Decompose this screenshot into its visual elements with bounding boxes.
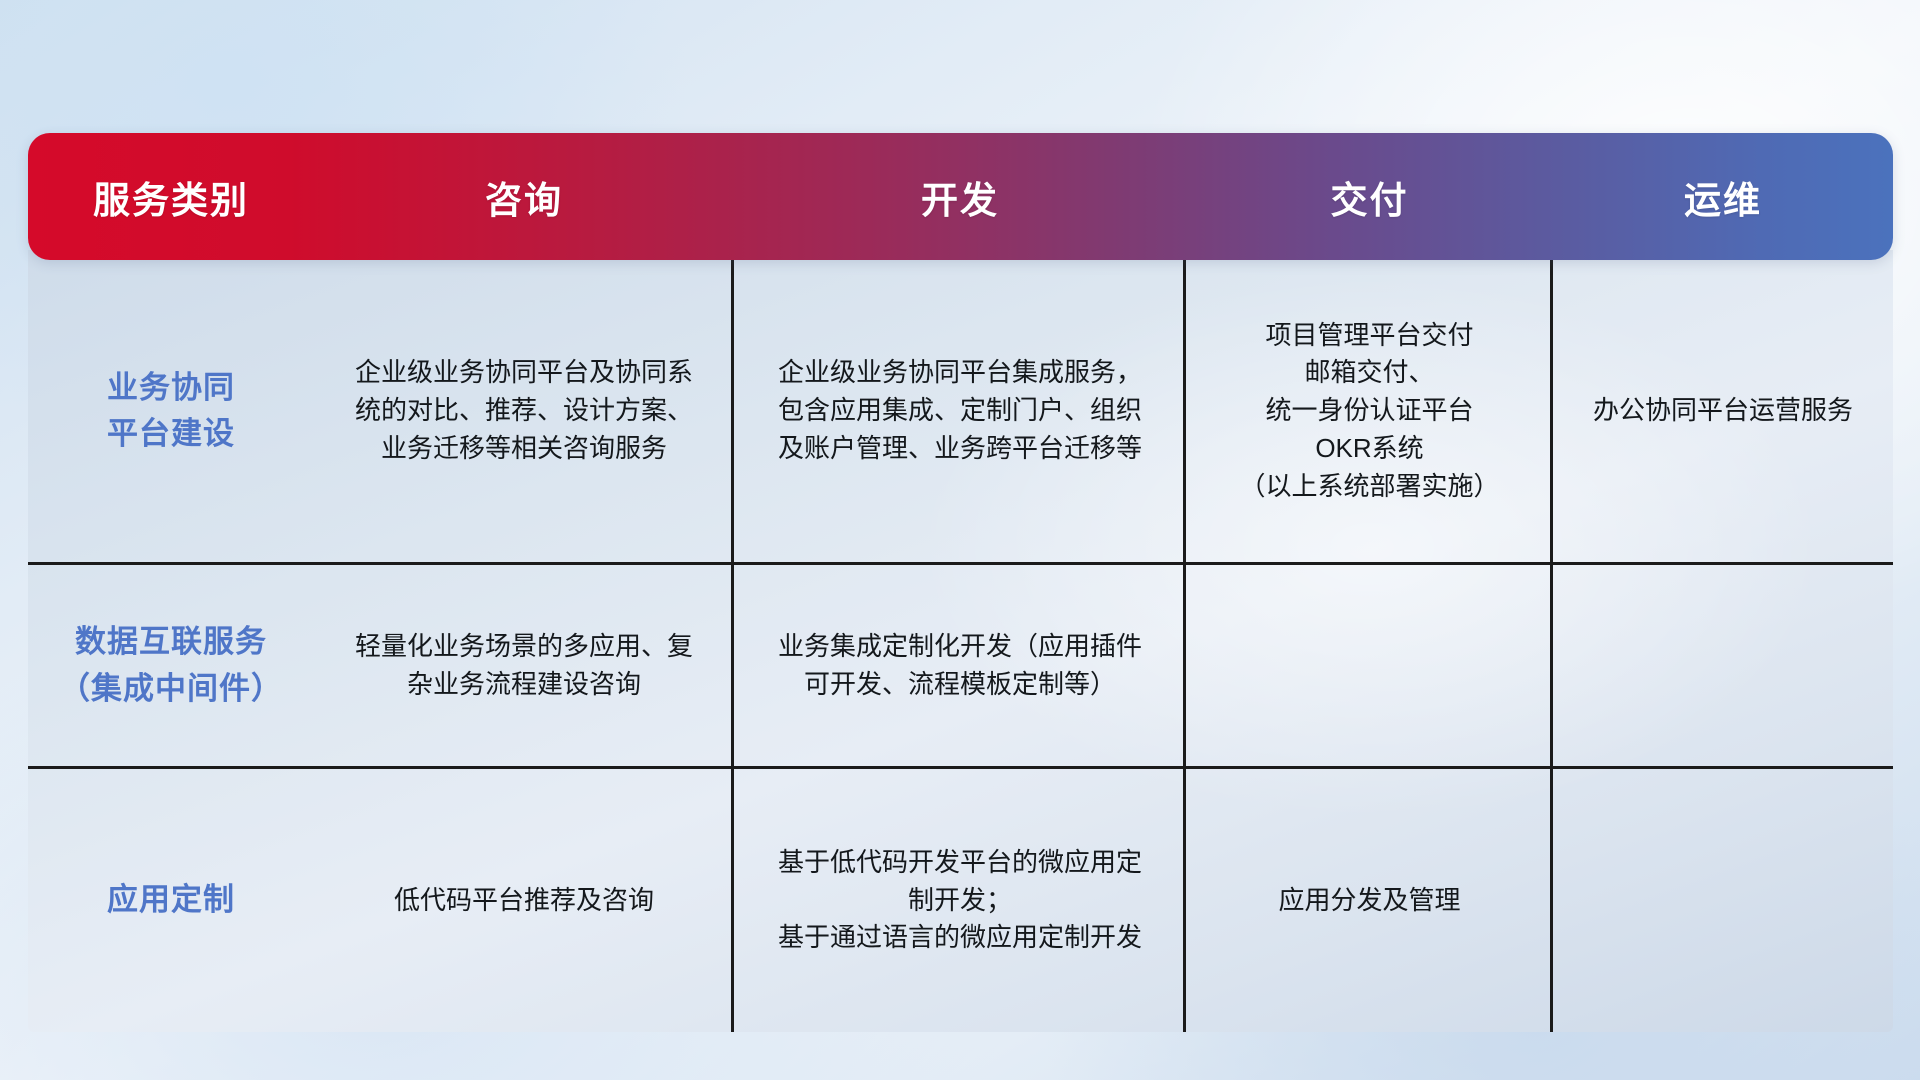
column-header-label: 咨询 (485, 170, 563, 224)
table-header-row: 服务类别 咨询 开发 交付 运维 (28, 133, 1893, 260)
cell-delivery: 项目管理平台交付 邮箱交付、 统一身份认证平台 OKR系统 （以上系统部署实施） (1186, 260, 1553, 562)
column-header-operations: 运维 (1553, 133, 1893, 260)
column-header-development: 开发 (734, 133, 1186, 260)
row-category-cell: 应用定制 (28, 769, 314, 1032)
cell-consulting: 低代码平台推荐及咨询 (314, 769, 734, 1032)
cell-operations (1553, 565, 1893, 766)
cell-text: 轻量化业务场景的多应用、复 杂业务流程建设咨询 (355, 628, 693, 703)
cell-delivery: 应用分发及管理 (1186, 769, 1553, 1032)
table-row: 业务协同 平台建设 企业级业务协同平台及协同系 统的对比、推荐、设计方案、 业务… (28, 260, 1893, 562)
cell-text: 数据互联服务 （集成中间件） (59, 619, 283, 712)
cell-development: 企业级业务协同平台集成服务， 包含应用集成、定制门户、组织 及账户管理、业务跨平… (734, 260, 1186, 562)
column-header-service-category: 服务类别 (28, 133, 314, 260)
cell-consulting: 企业级业务协同平台及协同系 统的对比、推荐、设计方案、 业务迁移等相关咨询服务 (314, 260, 734, 562)
table-row: 数据互联服务 （集成中间件） 轻量化业务场景的多应用、复 杂业务流程建设咨询 业… (28, 562, 1893, 766)
cell-text: 企业级业务协同平台集成服务， 包含应用集成、定制门户、组织 及账户管理、业务跨平… (778, 354, 1142, 467)
column-header-delivery: 交付 (1186, 133, 1553, 260)
cell-text: 基于低代码开发平台的微应用定 制开发； 基于通过语言的微应用定制开发 (778, 844, 1142, 957)
cell-development: 业务集成定制化开发（应用插件 可开发、流程模板定制等） (734, 565, 1186, 766)
cell-text: 办公协同平台运营服务 (1593, 392, 1853, 430)
table-body: 业务协同 平台建设 企业级业务协同平台及协同系 统的对比、推荐、设计方案、 业务… (28, 250, 1893, 1032)
column-header-label: 服务类别 (93, 170, 249, 224)
cell-operations: 办公协同平台运营服务 (1553, 260, 1893, 562)
cell-text: 应用定制 (107, 877, 235, 924)
row-category-cell: 业务协同 平台建设 (28, 260, 314, 562)
cell-text: 业务协同 平台建设 (107, 365, 235, 458)
slide-canvas: 服务类别 咨询 开发 交付 运维 业务协同 平台建设 (0, 0, 1920, 1080)
cell-text: 业务集成定制化开发（应用插件 可开发、流程模板定制等） (778, 628, 1142, 703)
cell-text: 低代码平台推荐及咨询 (394, 882, 654, 920)
column-header-label: 交付 (1331, 170, 1409, 224)
cell-development: 基于低代码开发平台的微应用定 制开发； 基于通过语言的微应用定制开发 (734, 769, 1186, 1032)
column-header-label: 运维 (1684, 170, 1762, 224)
column-header-consulting: 咨询 (314, 133, 734, 260)
row-category-cell: 数据互联服务 （集成中间件） (28, 565, 314, 766)
cell-text: 项目管理平台交付 邮箱交付、 统一身份认证平台 OKR系统 （以上系统部署实施） (1239, 317, 1499, 505)
service-matrix-table: 服务类别 咨询 开发 交付 运维 业务协同 平台建设 (28, 133, 1893, 956)
cell-operations (1553, 769, 1893, 1032)
cell-delivery (1186, 565, 1553, 766)
cell-consulting: 轻量化业务场景的多应用、复 杂业务流程建设咨询 (314, 565, 734, 766)
cell-text: 企业级业务协同平台及协同系 统的对比、推荐、设计方案、 业务迁移等相关咨询服务 (355, 354, 693, 467)
table-row: 应用定制 低代码平台推荐及咨询 基于低代码开发平台的微应用定 制开发； 基于通过… (28, 766, 1893, 1032)
column-header-label: 开发 (921, 170, 999, 224)
cell-text: 应用分发及管理 (1278, 882, 1460, 920)
